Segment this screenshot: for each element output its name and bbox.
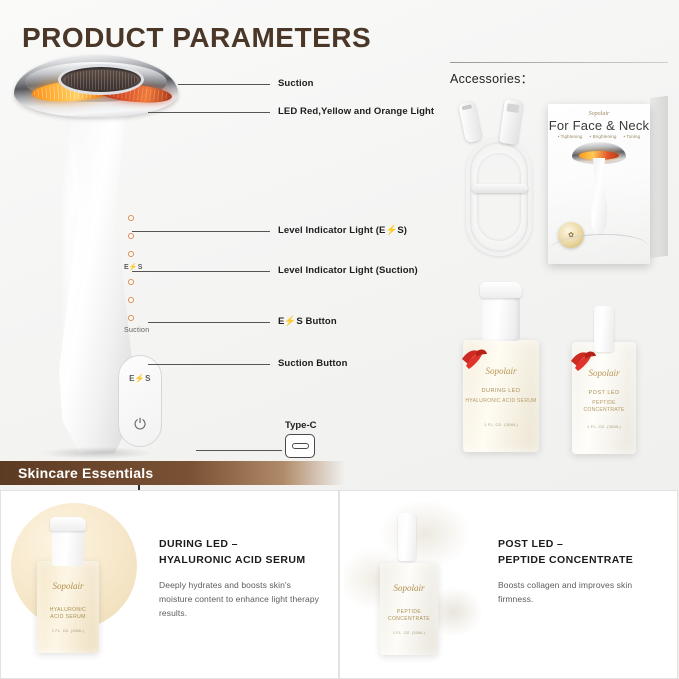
card-image: Sopolair PEPTIDE CONCENTRATE 1 FL. OZ. (…	[340, 491, 492, 678]
card-during-led[interactable]: Sopolair HYALURONIC ACID SERUM 1 FL. OZ.…	[0, 490, 339, 679]
card-heading-line2: HYALURONIC ACID SERUM	[159, 554, 305, 566]
bottle-volume-label: 1 FL. OZ. (30ML)	[463, 422, 539, 427]
card-bottle-during-led: Sopolair HYALURONIC ACID SERUM 1 FL. OZ.…	[37, 517, 99, 653]
callout-label: Suction	[278, 78, 314, 89]
bottle-product-label: HYALURONIC ACID SERUM	[37, 607, 99, 621]
accessory-bottle-post-led: Sopolair POST LED PEPTIDE CONCENTRATE 1 …	[572, 306, 636, 454]
callout-leader-line	[148, 112, 270, 113]
callout-leader-line	[132, 231, 270, 232]
indicator-dot	[128, 315, 134, 321]
bottle-product-line2: CONCENTRATE	[388, 616, 430, 622]
bottle-collar	[482, 297, 520, 341]
box-brand-label: Sopolair	[548, 111, 650, 117]
bottle-pump-cap	[50, 517, 86, 531]
callout-label: Level Indicator Light (E⚡S)	[278, 225, 407, 236]
callout-leader-line	[132, 271, 270, 272]
callout-label: LED Red,Yellow and Orange Light	[278, 106, 434, 117]
callout-leader-line	[148, 364, 270, 365]
box-feature-item: Tightening	[558, 134, 583, 139]
device-head	[14, 55, 178, 117]
bottle-glass: Sopolair DURING LED HYALURONIC ACID SERU…	[463, 340, 539, 452]
accessories-divider	[450, 62, 668, 63]
usb-c-port-slot	[292, 443, 309, 449]
accessories-title: Accessories：	[450, 68, 533, 87]
card-bottle-post-led: Sopolair PEPTIDE CONCENTRATE 1 FL. OZ. (…	[380, 513, 438, 655]
typec-group: Type-C	[285, 420, 317, 458]
skincare-cards: Sopolair HYALURONIC ACID SERUM 1 FL. OZ.…	[0, 490, 679, 679]
cable-tie	[472, 184, 528, 193]
page-title: PRODUCT PARAMETERS	[22, 22, 371, 54]
card-text: POST LED – PEPTIDE CONCENTRATE Boosts co…	[492, 491, 677, 678]
bottle-dropper-cap	[594, 306, 614, 352]
bottle-product-line2: ACID SERUM	[50, 614, 85, 620]
product-infographic-page: PRODUCT PARAMETERS E⚡S Suction E⚡S	[0, 0, 679, 679]
skincare-essentials-banner: Skincare Essentials	[0, 461, 345, 485]
callout-label: Suction Button	[278, 358, 347, 369]
card-text: DURING LED – HYALURONIC ACID SERUM Deepl…	[153, 491, 338, 678]
bottle-pump-cap	[480, 282, 522, 298]
bottle-brand-script: Sopolair	[37, 581, 99, 591]
card-heading-line1: POST LED –	[498, 538, 563, 550]
box-device-body	[585, 158, 613, 236]
bottle-product-label: HYALURONIC ACID SERUM	[463, 398, 539, 405]
bottle-glass: Sopolair HYALURONIC ACID SERUM 1 FL. OZ.…	[37, 561, 99, 653]
bottle-product-line1: PEPTIDE	[397, 609, 421, 615]
device-shadow	[42, 447, 152, 459]
card-heading-line1: DURING LED –	[159, 538, 238, 550]
bottle-product-label: PEPTIDE CONCENTRATE	[572, 400, 636, 414]
bottle-stage-label: POST LED	[572, 390, 636, 396]
box-feature-item: Toning	[623, 134, 640, 139]
suction-indicator-label: Suction	[124, 327, 149, 334]
box-device-art	[572, 142, 626, 234]
card-post-led[interactable]: Sopolair PEPTIDE CONCENTRATE 1 FL. OZ. (…	[339, 490, 678, 679]
gift-ribbon-icon	[460, 346, 494, 372]
bottle-glass: Sopolair POST LED PEPTIDE CONCENTRATE 1 …	[572, 342, 636, 454]
box-front-panel: Sopolair For Face & Neck Tightening Brig…	[548, 104, 650, 264]
indicator-dot	[128, 251, 134, 257]
suction-mesh	[65, 70, 137, 90]
callout-label: Level Indicator Light (Suction)	[278, 265, 418, 276]
indicator-dot	[128, 233, 134, 239]
indicator-dot	[128, 297, 134, 303]
cable-loop-inner	[474, 150, 524, 244]
card-image: Sopolair HYALURONIC ACID SERUM 1 FL. OZ.…	[1, 491, 153, 678]
indicator-dot	[128, 279, 134, 285]
device-illustration: E⚡S Suction E⚡S ⏻	[8, 55, 248, 455]
bottle-stage-label: DURING LED	[463, 388, 539, 394]
bottle-glass: Sopolair PEPTIDE CONCENTRATE 1 FL. OZ. (…	[380, 563, 438, 655]
card-heading: POST LED – PEPTIDE CONCENTRATE	[498, 537, 661, 569]
retail-box-image: Sopolair For Face & Neck Tightening Brig…	[548, 98, 672, 266]
box-side-panel	[650, 96, 668, 258]
bottle-volume-label: 1 FL. OZ. (30ML)	[380, 631, 438, 635]
accessory-bottle-during-led: Sopolair DURING LED HYALURONIC ACID SERU…	[463, 282, 539, 452]
usb-c-plug-icon	[458, 101, 482, 143]
card-heading-line2: PEPTIDE CONCENTRATE	[498, 554, 633, 566]
typec-label: Type-C	[285, 420, 317, 431]
box-feature-item: Brightening	[590, 134, 617, 139]
bottle-volume-label: 1 FL. OZ. (30ML)	[37, 629, 99, 633]
usb-c-port-icon	[285, 434, 315, 458]
box-title-label: For Face & Neck	[548, 118, 650, 133]
box-feature-list: Tightening Brightening Toning	[548, 134, 650, 139]
bottle-product-line1: HYALURONIC	[50, 607, 86, 613]
bottle-dropper-cap	[398, 513, 416, 561]
card-description: Deeply hydrates and boosts skin's moistu…	[159, 578, 322, 620]
bottle-brand-script: Sopolair	[380, 583, 438, 593]
bottle-product-label: PEPTIDE CONCENTRATE	[380, 609, 438, 623]
power-button[interactable]: ⏻	[118, 403, 162, 445]
callout-leader-line	[178, 84, 270, 85]
callout-leader-line	[196, 450, 282, 451]
callout-label: E⚡S Button	[278, 316, 337, 327]
card-description: Boosts collagen and improves skin firmne…	[498, 578, 661, 606]
indicator-dot	[128, 215, 134, 221]
callout-leader-line	[148, 322, 270, 323]
ems-indicator-label: E⚡S	[124, 263, 149, 271]
bottle-volume-label: 1 FL. OZ. (30ML)	[572, 424, 636, 429]
banner-title: Skincare Essentials	[18, 465, 153, 481]
usb-cable-image	[452, 98, 548, 263]
device-highlight	[64, 111, 80, 411]
bottle-collar	[52, 530, 84, 566]
indicator-light-column: E⚡S Suction	[128, 215, 149, 342]
usb-a-plug-icon	[499, 99, 523, 145]
card-heading: DURING LED – HYALURONIC ACID SERUM	[159, 537, 322, 569]
